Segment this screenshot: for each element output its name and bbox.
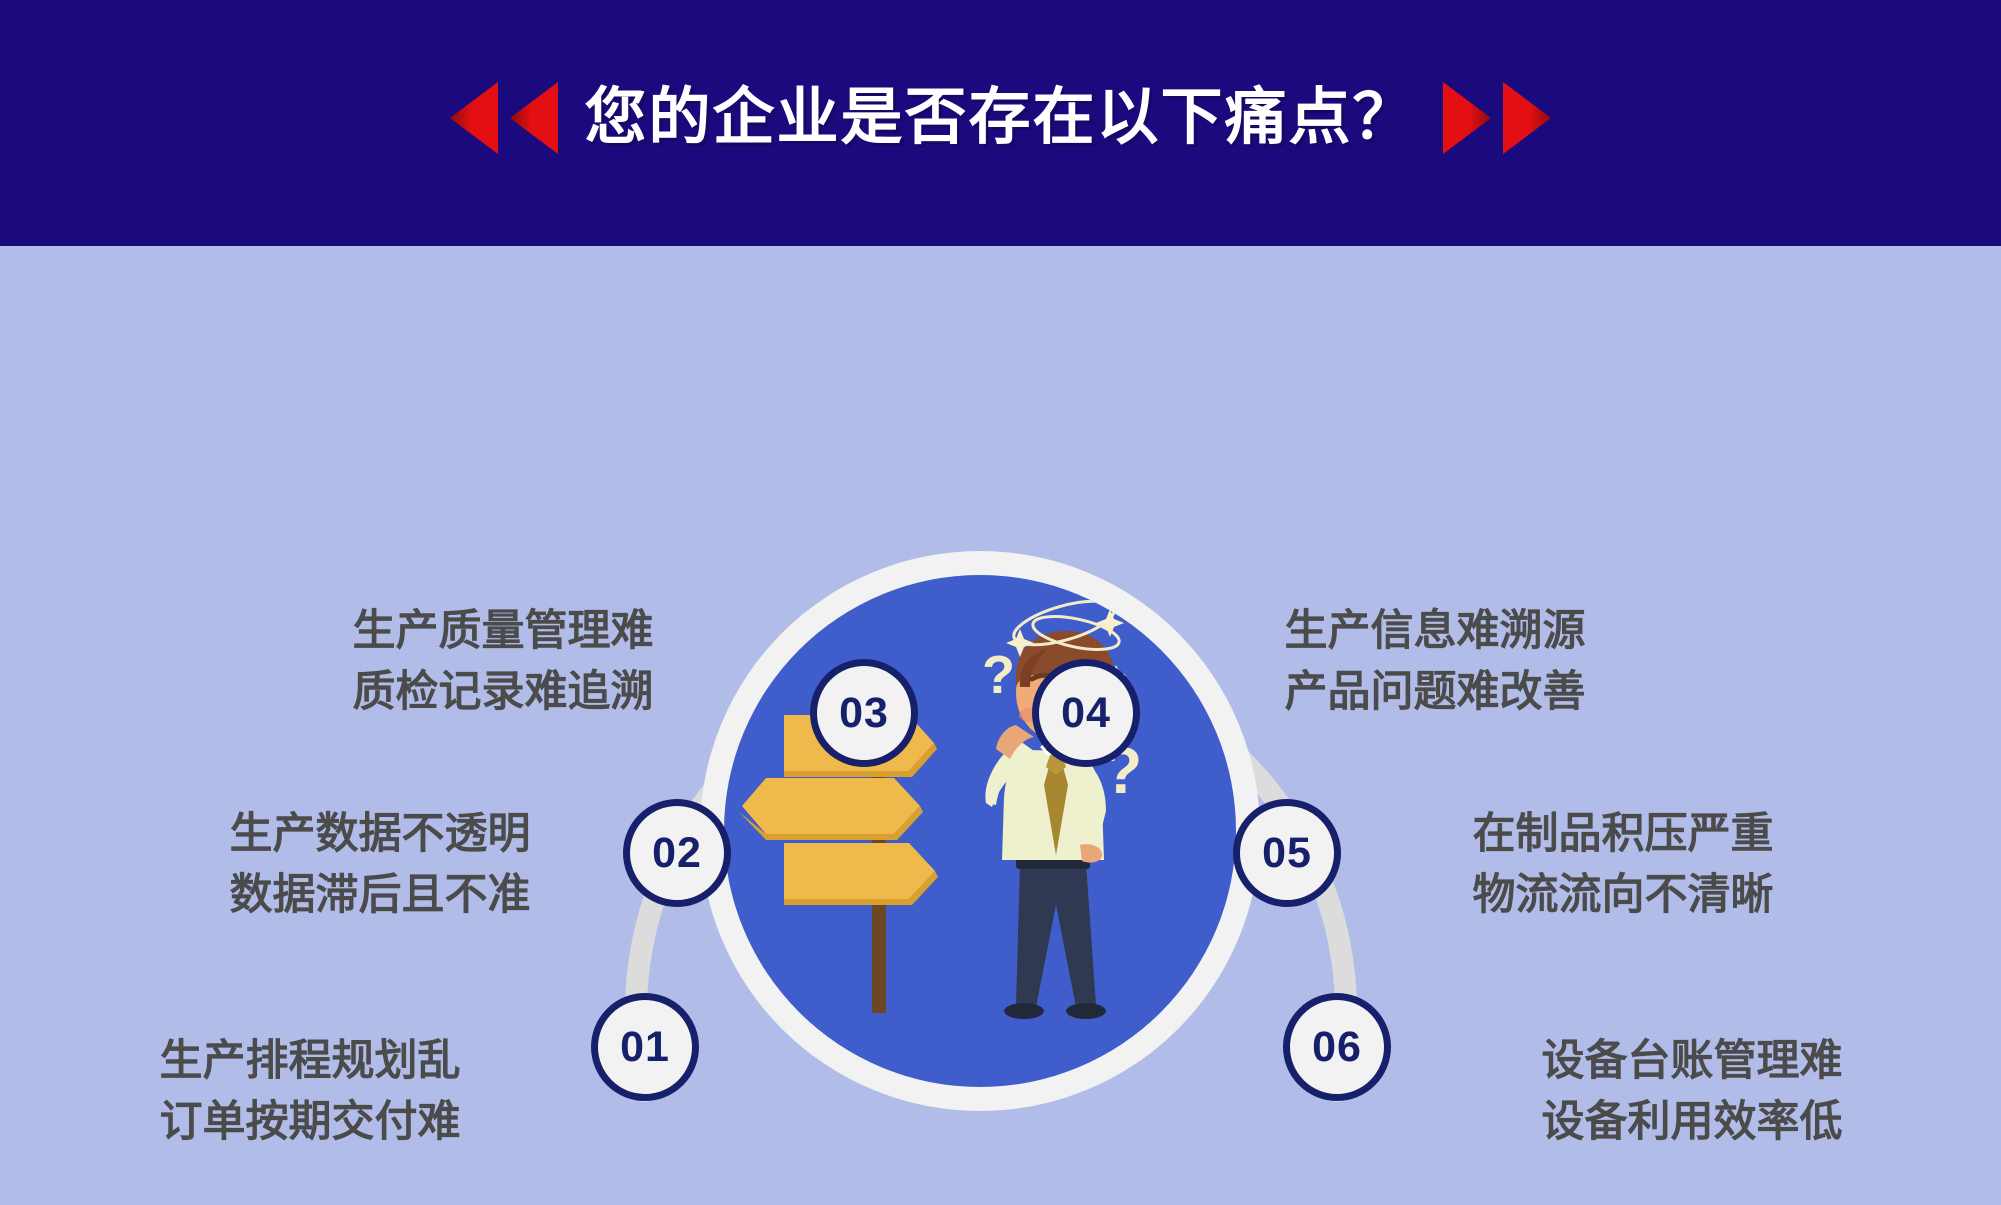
svg-text:?: ? bbox=[982, 645, 1015, 705]
pain-point-line-1: 生产信息难溯源 bbox=[1235, 601, 1635, 662]
pain-point-label-02: 生产数据不透明 数据滞后且不准 bbox=[180, 804, 580, 926]
pain-point-number: 05 bbox=[1262, 832, 1312, 875]
pain-point-line-2: 产品问题难改善 bbox=[1235, 662, 1635, 723]
page-title: 您的企业是否存在以下痛点？ bbox=[584, 87, 1416, 149]
pain-point-circle-02[interactable]: 02 bbox=[623, 799, 731, 907]
pain-point-line-2: 数据滞后且不准 bbox=[180, 865, 580, 926]
pain-point-line-1: 生产排程规划乱 bbox=[110, 1031, 510, 1092]
double-chevron-right-icon bbox=[1443, 82, 1551, 154]
pain-point-label-03: 生产质量管理难 质检记录难追溯 bbox=[323, 601, 683, 723]
pain-point-number: 06 bbox=[1312, 1026, 1362, 1069]
pain-point-line-1: 设备台账管理难 bbox=[1492, 1031, 1892, 1092]
pain-point-line-1: 生产质量管理难 bbox=[323, 601, 683, 662]
pain-point-line-2: 物流流向不清晰 bbox=[1423, 865, 1823, 926]
pain-point-circle-06[interactable]: 06 bbox=[1283, 993, 1391, 1101]
pain-point-line-2: 设备利用效率低 bbox=[1492, 1092, 1892, 1153]
pain-point-label-06: 设备台账管理难 设备利用效率低 bbox=[1492, 1031, 1892, 1153]
header-content: 您的企业是否存在以下痛点？ bbox=[0, 0, 2001, 246]
question-mark-icon: ? bbox=[982, 645, 1015, 705]
header-banner: 您的企业是否存在以下痛点？ bbox=[0, 0, 2001, 246]
pain-point-circle-05[interactable]: 05 bbox=[1233, 799, 1341, 907]
double-chevron-left-icon bbox=[450, 82, 558, 154]
pain-point-label-04: 生产信息难溯源 产品问题难改善 bbox=[1235, 601, 1635, 723]
pain-point-number: 01 bbox=[620, 1026, 670, 1069]
pain-point-circle-01[interactable]: 01 bbox=[591, 993, 699, 1101]
center-illustration: ? ? bbox=[724, 575, 1236, 1087]
pain-point-number: 04 bbox=[1061, 692, 1111, 735]
pain-point-line-2: 订单按期交付难 bbox=[110, 1092, 510, 1153]
pain-point-line-1: 生产数据不透明 bbox=[180, 804, 580, 865]
pain-point-label-01: 生产排程规划乱 订单按期交付难 bbox=[110, 1031, 510, 1153]
infographic-stage: ? ? 01 02 03 04 05 06 生产排程规划乱 订单按期交付难 生产… bbox=[0, 246, 2001, 1205]
pain-point-label-05: 在制品积压严重 物流流向不清晰 bbox=[1423, 804, 1823, 926]
pain-point-circle-03[interactable]: 03 bbox=[810, 659, 918, 767]
pain-point-line-1: 在制品积压严重 bbox=[1423, 804, 1823, 865]
pain-point-line-2: 质检记录难追溯 bbox=[323, 662, 683, 723]
pain-point-number: 02 bbox=[652, 832, 702, 875]
pain-point-circle-04[interactable]: 04 bbox=[1032, 659, 1140, 767]
pain-point-number: 03 bbox=[839, 692, 889, 735]
